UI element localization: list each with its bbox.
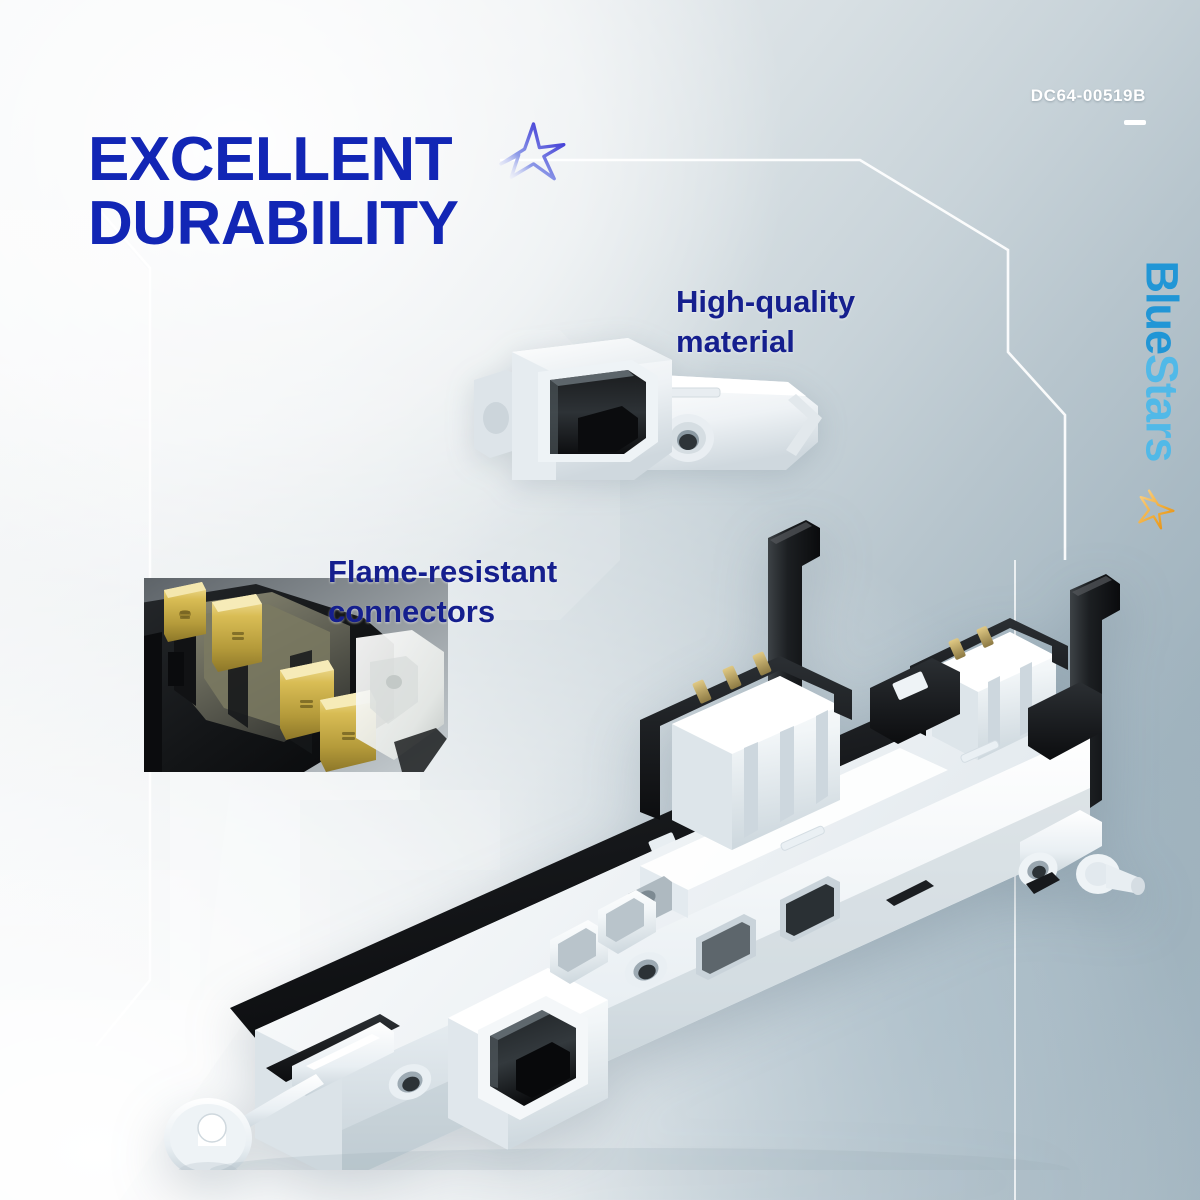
gold-star-icon	[1132, 486, 1178, 532]
brand-logo-stars: Stars	[1136, 354, 1188, 462]
callout-flame-resistant-connectors: Flame-resistant connectors	[328, 552, 648, 631]
product-marketing-canvas: EXCELLENT DURABILITY DC64-00519B BlueSta…	[0, 0, 1200, 1200]
headline-line-2: DURABILITY	[88, 192, 708, 256]
callout-connectors-line-1: Flame-resistant	[328, 552, 648, 592]
headline-line-1: EXCELLENT	[88, 128, 708, 192]
part-number-label: DC64-00519B	[1031, 86, 1146, 106]
page-title: EXCELLENT DURABILITY	[88, 128, 708, 256]
callout-material-line-2: material	[676, 322, 976, 362]
callout-connectors-line-2: connectors	[328, 592, 648, 632]
part-number-divider	[1124, 120, 1146, 125]
callout-high-quality-material: High-quality material	[676, 282, 976, 361]
star-outline-icon	[495, 118, 569, 192]
brand-logo-blue: Blue	[1136, 260, 1188, 354]
callout-material-line-1: High-quality	[676, 282, 976, 322]
